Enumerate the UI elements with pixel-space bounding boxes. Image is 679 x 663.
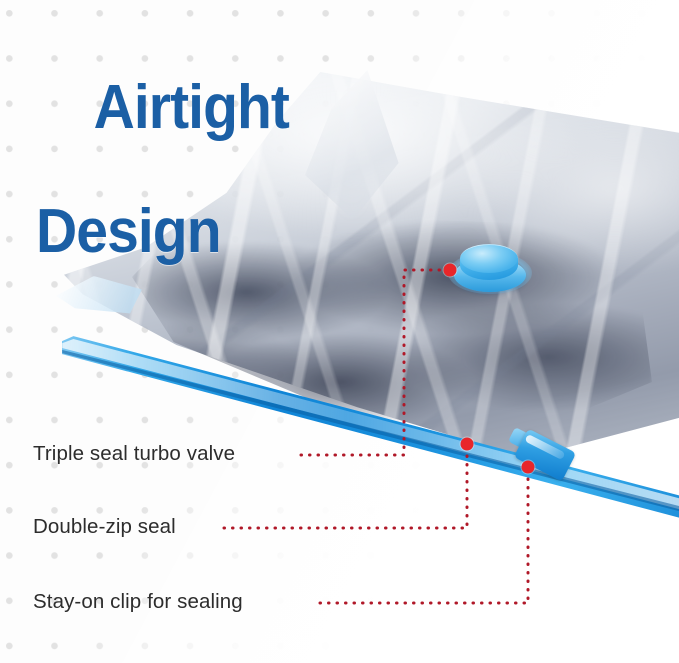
infographic-canvas: Airtight Design Triple seal turbo valve … <box>0 0 679 663</box>
callout-marker-zip <box>461 438 474 451</box>
callout-label-zip: Double-zip seal <box>33 515 176 539</box>
callout-marker-valve <box>444 264 457 277</box>
callout-marker-clip <box>522 461 535 474</box>
callout-label-clip: Stay-on clip for sealing <box>33 590 243 614</box>
headline-line-1: Airtight <box>94 73 289 142</box>
callout-label-valve: Triple seal turbo valve <box>33 442 235 466</box>
headline: Airtight Design <box>36 20 289 379</box>
turbo-valve-cap <box>460 244 518 273</box>
headline-line-2: Design <box>36 203 289 262</box>
